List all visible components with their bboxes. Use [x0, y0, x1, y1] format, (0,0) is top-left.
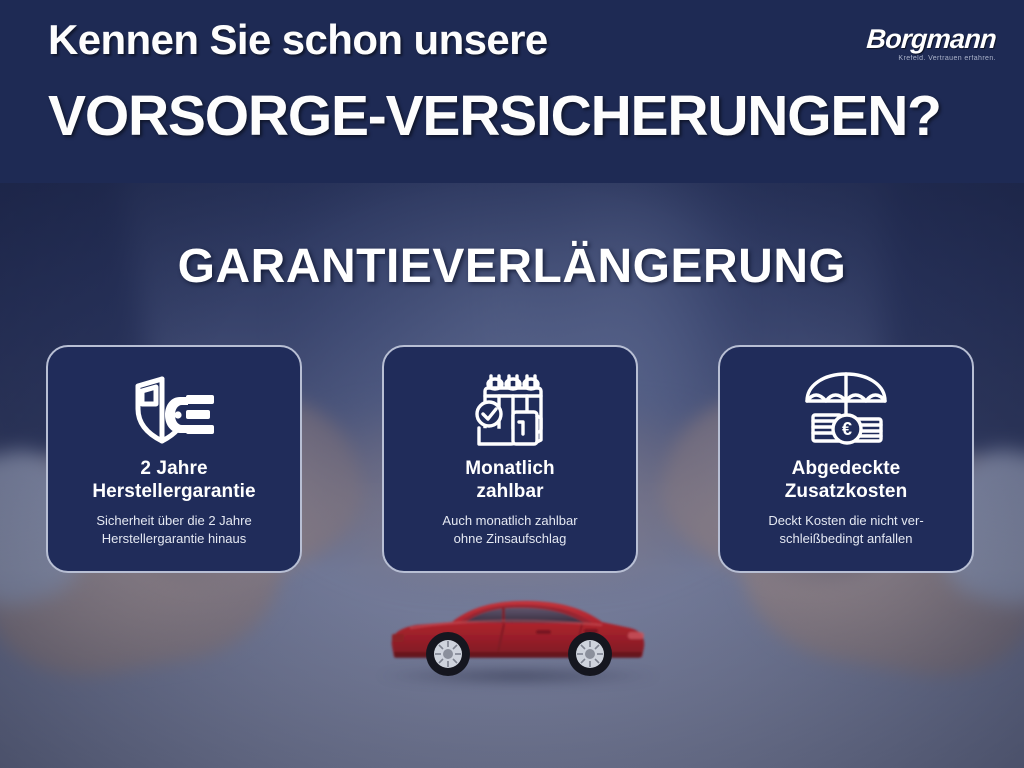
- umbrella-coins-euro-icon: €: [720, 367, 972, 453]
- card-title-line1: 2 Jahre: [140, 458, 207, 479]
- svg-text:€: €: [842, 419, 852, 439]
- card-title: Abgedeckte Zusatzkosten: [720, 457, 972, 503]
- card-title: Monatlich zahlbar: [384, 457, 636, 503]
- feature-card-monthly-payment[interactable]: Monatlich zahlbar Auch monatlich zahlbar…: [382, 345, 638, 573]
- card-description: Sicherheit über die 2 Jahre Herstellerga…: [48, 512, 300, 547]
- card-title: 2 Jahre Herstellergarantie: [48, 457, 300, 503]
- card-title-line1: Abgedeckte: [792, 458, 901, 479]
- card-title-line2: zahlbar: [476, 481, 543, 502]
- header-banner: Kennen Sie schon unsere VORSORGE-VERSICH…: [0, 0, 1024, 183]
- card-description: Deckt Kosten die nicht ver- schleißbedin…: [720, 512, 972, 547]
- card-desc-line1: Auch monatlich zahlbar: [442, 513, 577, 528]
- card-desc-line1: Sicherheit über die 2 Jahre: [96, 513, 251, 528]
- calendar-check-cash-icon: [384, 367, 636, 453]
- borgmann-logo[interactable]: Borgmann Krefeld. Vertrauen erfahren.: [846, 26, 996, 74]
- feature-card-warranty[interactable]: 2 Jahre Herstellergarantie Sicherheit üb…: [46, 345, 302, 573]
- section-title: GARANTIEVERLÄNGERUNG: [0, 243, 1024, 291]
- card-title-line2: Herstellergarantie: [92, 481, 255, 502]
- red-toy-car: [386, 594, 648, 678]
- card-desc-line1: Deckt Kosten die nicht ver-: [768, 513, 923, 528]
- card-title-line2: Zusatzkosten: [785, 481, 908, 502]
- logo-wordmark: Borgmann: [845, 26, 997, 53]
- headline-large: VORSORGE-VERSICHERUNGEN?: [48, 88, 941, 145]
- feature-card-extra-costs[interactable]: € Abgedeckte Zusatzkosten Deckt Kosten d…: [718, 345, 974, 573]
- card-desc-line2: ohne Zinsaufschlag: [454, 531, 567, 546]
- shield-gear-icon: [48, 367, 300, 453]
- insurance-promo-banner: GARANTIEVERLÄNGERUNG: [0, 0, 1024, 768]
- card-desc-line2: Herstellergarantie hinaus: [102, 531, 247, 546]
- card-description: Auch monatlich zahlbar ohne Zinsaufschla…: [384, 512, 636, 547]
- card-title-line1: Monatlich: [465, 458, 555, 479]
- feature-card-row: 2 Jahre Herstellergarantie Sicherheit üb…: [0, 345, 1024, 575]
- card-desc-line2: schleißbedingt anfallen: [780, 531, 913, 546]
- logo-tagline: Krefeld. Vertrauen erfahren.: [846, 55, 996, 62]
- headline-small: Kennen Sie schon unsere: [48, 19, 548, 61]
